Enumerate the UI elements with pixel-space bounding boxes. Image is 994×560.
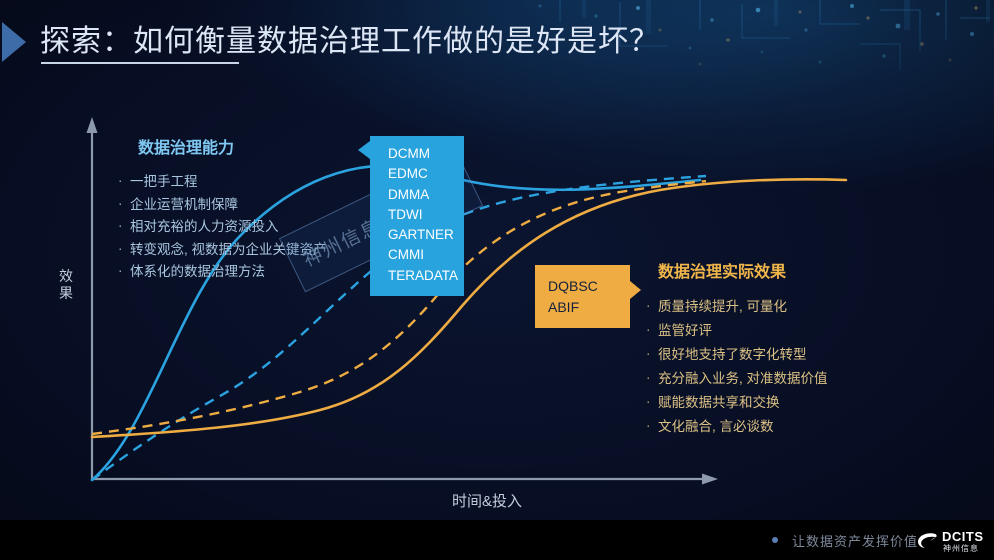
results-list: 质量持续提升, 可量化 监管好评 很好地支持了数字化转型 充分融入业务, 对准数… (644, 295, 894, 439)
list-item: 文化融合, 言必谈数 (644, 415, 894, 439)
capability-title: 数据治理能力 (138, 134, 366, 158)
slide-header: 探索：如何衡量数据治理工作做的是好是坏？ (0, 8, 994, 78)
list-item: ABIF (548, 297, 630, 318)
logo-chinese-name: 神州信息 (943, 543, 979, 554)
list-item: 体系化的数据治理方法 (116, 261, 366, 284)
slide: 探索：如何衡量数据治理工作做的是好是坏？ 效果 时间&投入 数据治理能力 一把手… (0, 0, 994, 560)
frameworks-callout: DCMM EDMC DMMA TDWI GARTNER CMMI TERADAT… (370, 136, 464, 296)
list-item: 企业运营机制保障 (116, 194, 366, 217)
list-item: 质量持续提升, 可量化 (644, 295, 894, 319)
metrics-callout: DQBSC ABIF (535, 265, 630, 328)
list-item: TERADATA (388, 266, 464, 286)
list-item: 充分融入业务, 对准数据价值 (644, 367, 894, 391)
list-item: 相对充裕的人力资源投入 (116, 216, 366, 239)
list-item: 转变观念, 视数据为企业关键资产 (116, 239, 366, 262)
page-title: 探索：如何衡量数据治理工作做的是好是坏？ (40, 16, 660, 60)
triangle-right-icon (2, 22, 26, 62)
frameworks-list: DCMM EDMC DMMA TDWI GARTNER CMMI TERADAT… (370, 136, 464, 286)
y-axis-label: 效果 (56, 268, 76, 302)
capability-block: 数据治理能力 一把手工程 企业运营机制保障 相对充裕的人力资源投入 转变观念, … (116, 134, 366, 284)
list-item: 很好地支持了数字化转型 (644, 343, 894, 367)
title-underline (41, 62, 239, 64)
metrics-list: DQBSC ABIF (535, 265, 630, 318)
list-item: 赋能数据共享和交换 (644, 391, 894, 415)
list-item: EDMC (388, 164, 464, 184)
list-item: 一把手工程 (116, 171, 366, 194)
capability-list: 一把手工程 企业运营机制保障 相对充裕的人力资源投入 转变观念, 视数据为企业关… (116, 171, 366, 284)
slide-footer: 让数据资产发挥价值 DCITS 神州信息 (0, 520, 994, 560)
y-axis-arrow (87, 117, 98, 133)
list-item: DCMM (388, 144, 464, 164)
logo-wordmark: DCITS (942, 529, 984, 544)
footer-tagline: 让数据资产发挥价值 (792, 531, 918, 550)
list-item: GARTNER (388, 225, 464, 245)
x-axis-label: 时间&投入 (452, 490, 522, 511)
callout-notch-icon (630, 281, 641, 299)
results-block: 数据治理实际效果 质量持续提升, 可量化 监管好评 很好地支持了数字化转型 充分… (644, 258, 894, 439)
list-item: TDWI (388, 205, 464, 225)
bullet-dot-icon (772, 537, 778, 543)
list-item: CMMI (388, 245, 464, 265)
list-item: 监管好评 (644, 319, 894, 343)
callout-notch-icon (358, 141, 370, 159)
list-item: DMMA (388, 185, 464, 205)
x-axis-arrow (702, 474, 718, 485)
company-logo: DCITS 神州信息 (916, 529, 988, 555)
list-item: DQBSC (548, 276, 630, 297)
results-title: 数据治理实际效果 (658, 258, 894, 282)
dcits-swirl-icon (916, 531, 938, 551)
